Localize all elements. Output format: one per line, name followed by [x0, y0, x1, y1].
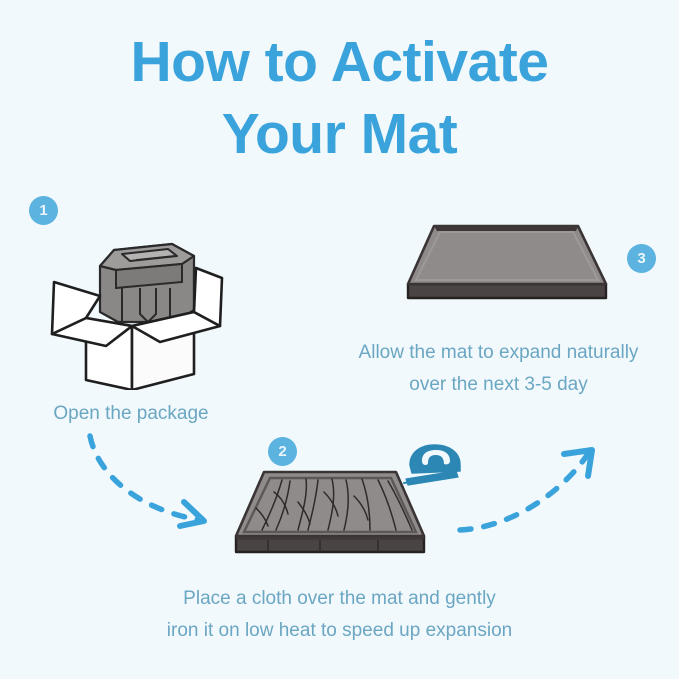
page-title: How to Activate Your Mat [0, 26, 679, 170]
step-2-caption-line-2: iron it on low heat to speed up expansio… [68, 615, 611, 647]
step-2-caption: Place a cloth over the mat and gently ir… [68, 583, 611, 647]
packed-mat-shape [100, 244, 194, 322]
cardboard-box-icon [44, 218, 229, 390]
step-3-caption-line-2: over the next 3-5 day [318, 369, 679, 401]
dashed-arrow-up-right-icon [452, 438, 607, 543]
step-3-caption-line-1: Allow the mat to expand naturally [318, 337, 679, 369]
step-badge-3: 3 [627, 244, 656, 273]
how-to-activate-your-mat-infographic: How to Activate Your Mat 1 Open [0, 0, 679, 679]
step-1-caption: Open the package [0, 398, 262, 430]
page-title-line-2: Your Mat [0, 98, 679, 170]
page-title-line-1: How to Activate [0, 26, 679, 98]
flat-mat-icon [396, 216, 618, 310]
step-3-caption: Allow the mat to expand naturally over t… [318, 337, 679, 401]
dashed-arrow-down-right-icon [80, 428, 230, 538]
step-2-caption-line-1: Place a cloth over the mat and gently [68, 583, 611, 615]
